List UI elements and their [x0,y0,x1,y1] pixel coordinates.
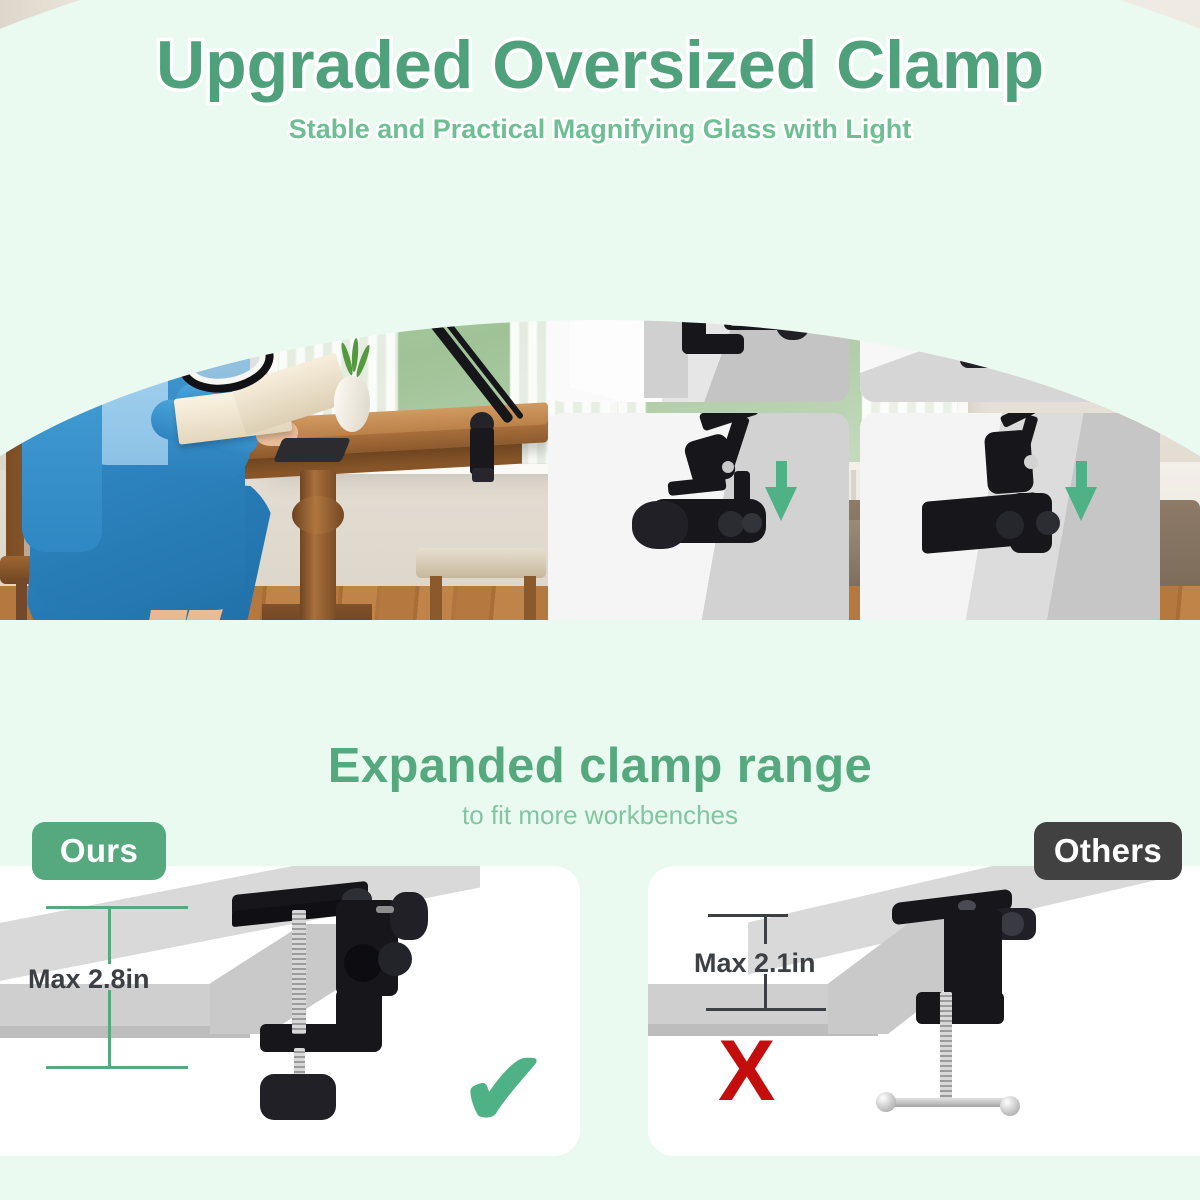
dim-line-top [708,914,788,917]
dim-tick-top [764,914,767,944]
dim-tick-top [108,906,111,964]
others-measurement: Max 2.1in [694,948,816,979]
dim-line-bottom [706,1008,826,1011]
window-latch [784,12,806,24]
lamp-head-joint [268,318,290,340]
window-latch [442,12,464,24]
down-arrow-icon [664,244,696,278]
down-arrow-icon [1067,260,1099,294]
dim-line-bottom [46,1066,188,1069]
books [6,150,102,206]
page-subtitle: Stable and Practical Magnifying Glass wi… [0,114,1200,145]
comparison-title: Expanded clamp range [0,738,1200,794]
clamp-screw [940,992,952,1104]
others-card: Max 2.1in X [648,866,1200,1156]
clamp-knob [260,1074,336,1120]
badge-others: Others [1034,822,1182,880]
comparison-subtitle: to fit more workbenches [0,800,1200,831]
ours-card: Max 2.8in ✔ [0,866,580,1156]
ours-measurement: Max 2.8in [28,964,150,995]
clamp-screw [292,910,306,1034]
dim-tick-bottom [108,990,111,1068]
product-infographic: Upgraded Oversized Clamp Stable and Prac… [0,0,1200,1200]
cross-icon: X [718,1028,775,1114]
t-bar-handle[interactable] [886,1098,1010,1107]
curved-divider [0,320,1200,930]
dim-tick-bottom [764,974,767,1010]
page-title: Upgraded Oversized Clamp [0,26,1200,104]
check-icon: ✔ [460,1038,547,1142]
badge-ours: Ours [32,822,166,880]
dim-line-top [46,906,188,909]
